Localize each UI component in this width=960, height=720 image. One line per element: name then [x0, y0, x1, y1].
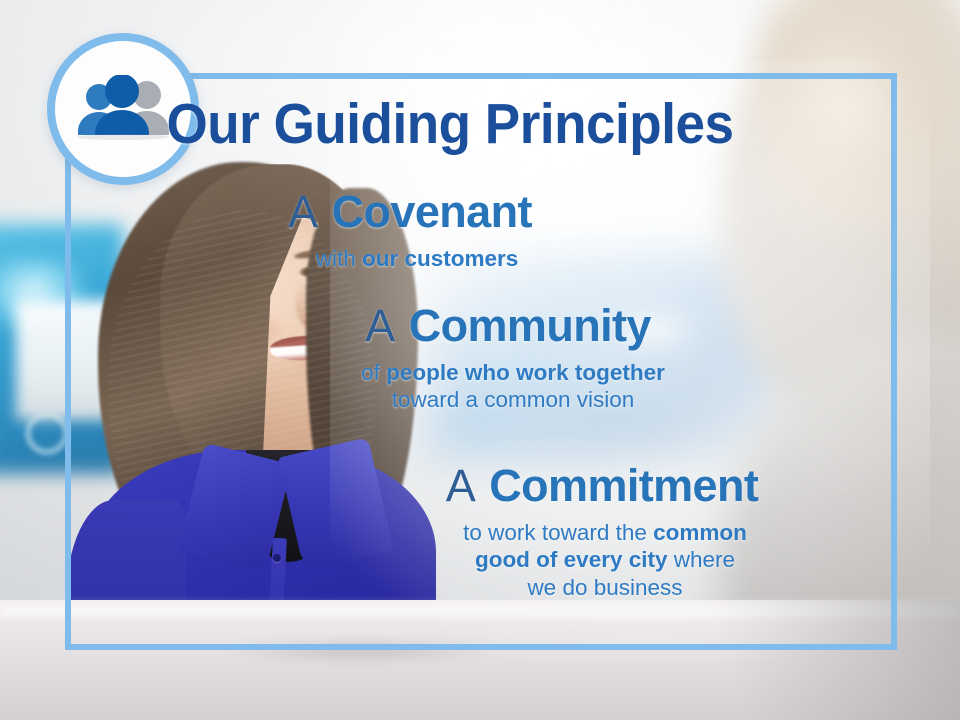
- people-group-badge: [47, 33, 199, 185]
- arm-shadow: [170, 640, 550, 662]
- people-group-icon: [71, 75, 175, 143]
- shirt-button-top: [273, 554, 281, 562]
- desk-shadow: [630, 600, 960, 720]
- customer-hair: [760, 0, 960, 240]
- car-highlight: [590, 300, 720, 360]
- guiding-principles-graphic: FLOW AUTOMOTIVE FLOW: [0, 0, 960, 720]
